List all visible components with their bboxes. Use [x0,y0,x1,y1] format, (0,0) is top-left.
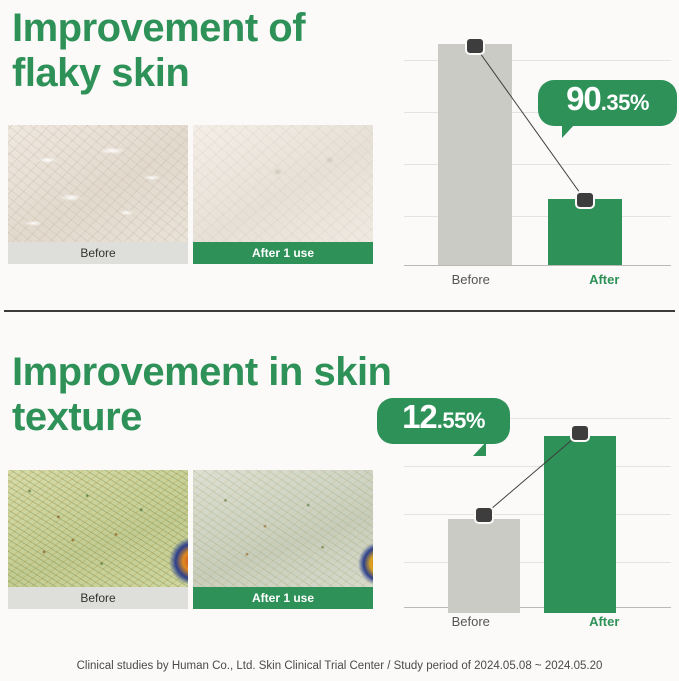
section-heading-texture: Improvement in skin texture [12,350,392,440]
chart-flaky-skin: Before After [396,38,671,288]
section-heading-flaky: Improvement of flaky skin [12,6,392,96]
photo-caption-before: Before [8,242,188,264]
skin-photo-before-image [8,125,188,242]
photo-caption-after: After 1 use [193,587,373,609]
texture-photo-after-image [193,470,373,587]
photo-pair-flaky: Before After 1 use [8,125,373,264]
photo-pair-texture: Before After 1 use [8,470,373,609]
axis-label-after: After [538,272,672,287]
section-flaky-skin: Improvement of flaky skin Before After 1… [0,0,679,310]
chart-axis-labels: Before After [404,272,671,287]
axis-label-before: Before [404,614,538,629]
callout-value-minor: .55% [437,408,485,434]
axis-label-before: Before [404,272,538,287]
photo-card-after: After 1 use [193,470,373,609]
photo-caption-after: After 1 use [193,242,373,264]
data-point-marker-after [575,191,595,209]
data-point-marker-before [465,37,485,55]
skin-photo-after-image [193,125,373,242]
trend-line [396,38,671,266]
callout-bubble-flaky: 90 .35% [538,80,677,126]
callout-tail [473,442,486,456]
chart-axis-labels: Before After [404,614,671,629]
chart-plot-area [396,38,671,266]
callout-value-major: 90 [566,80,601,118]
data-point-marker-after [570,424,590,442]
photo-caption-before: Before [8,587,188,609]
photo-card-before: Before [8,125,188,264]
photo-card-after: After 1 use [193,125,373,264]
data-point-marker-before [474,506,494,524]
callout-tail [562,124,575,138]
section-divider [4,310,675,312]
texture-photo-before-image [8,470,188,587]
axis-label-after: After [538,614,672,629]
callout-value-minor: .35% [601,90,649,116]
callout-bubble-texture: 12 .55% [377,398,510,444]
footer-disclaimer: Clinical studies by Human Co., Ltd. Skin… [0,660,679,672]
callout-value-major: 12 [402,398,437,436]
photo-card-before: Before [8,470,188,609]
